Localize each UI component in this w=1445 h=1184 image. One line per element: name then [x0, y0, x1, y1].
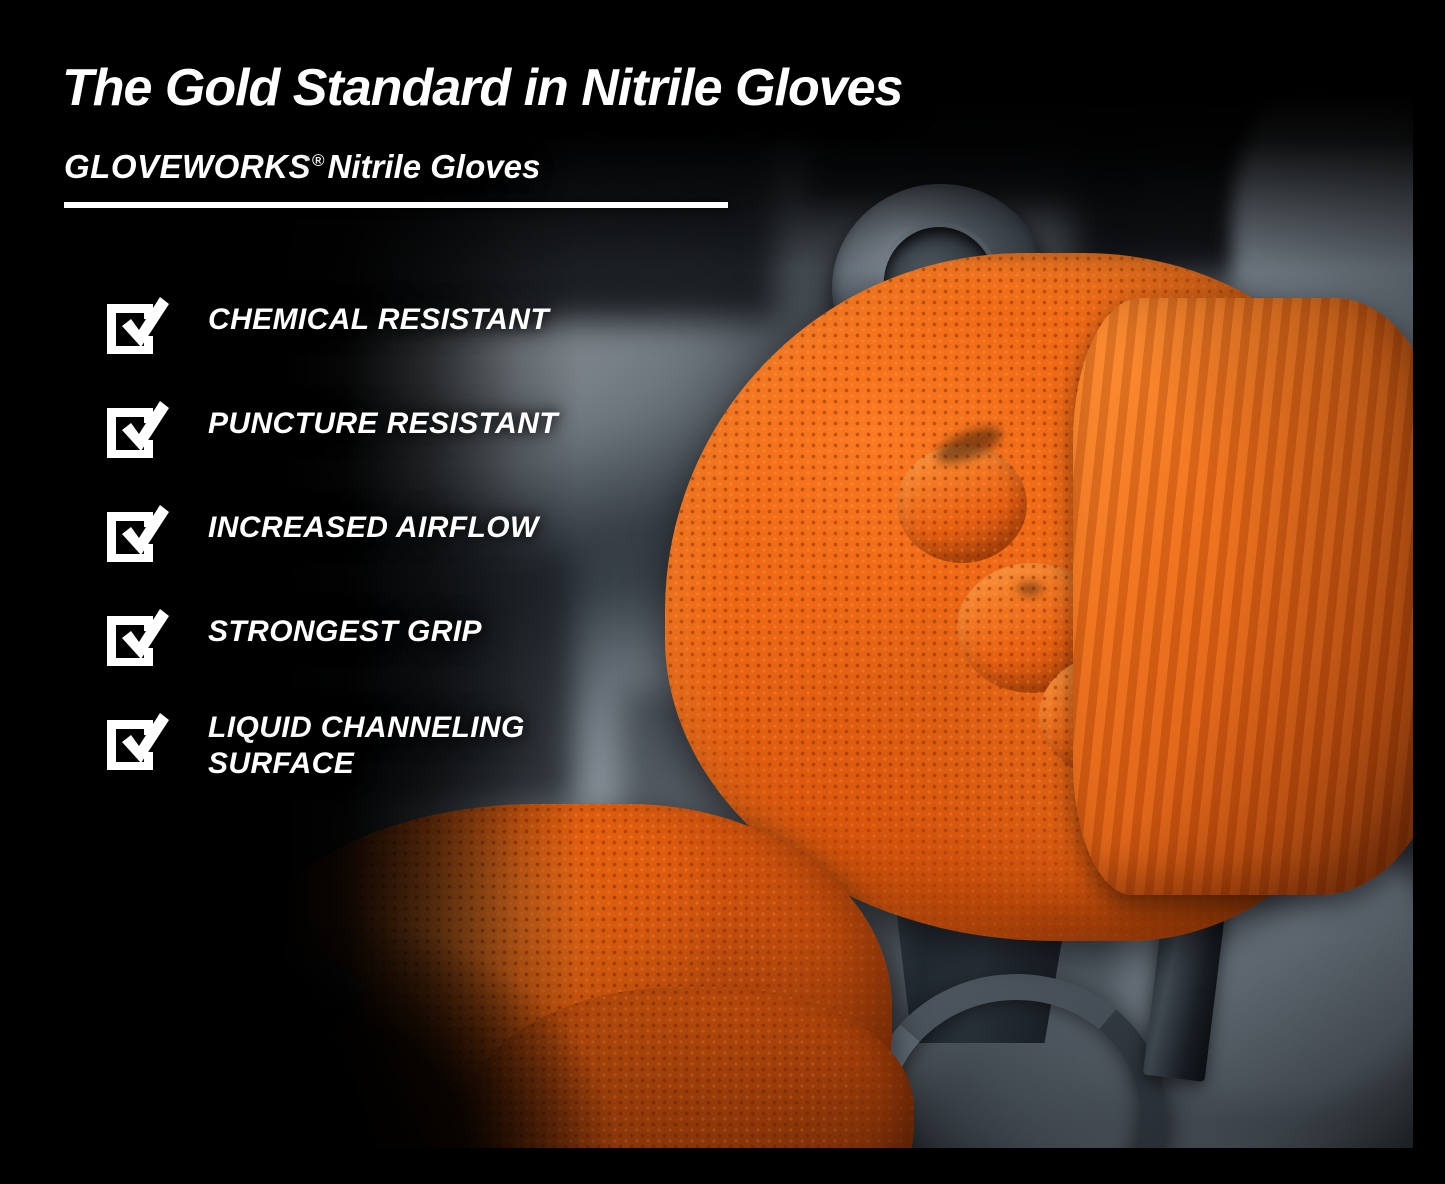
checked-checkbox-icon [103, 604, 173, 670]
divider-rule [64, 202, 728, 208]
registered-trademark-icon: ® [312, 151, 325, 170]
product-line: Nitrile Gloves [328, 148, 541, 185]
headline: The Gold Standard in Nitrile Gloves [62, 58, 902, 118]
feature-label-line2: SURFACE [208, 747, 354, 780]
feature-label: PUNCTURE RESISTANT [208, 406, 558, 442]
product-feature-banner: 45 The Gold Standard in [0, 0, 1445, 1184]
feature-item: STRONGEST GRIP [103, 600, 663, 704]
brand-name: GLOVEWORKS [64, 148, 311, 185]
checked-checkbox-icon [103, 292, 173, 358]
checked-checkbox-icon [103, 708, 173, 774]
checked-checkbox-icon [103, 500, 173, 566]
photo-bottom-left-fade [280, 818, 760, 1148]
feature-item: PUNCTURE RESISTANT [103, 392, 663, 496]
feature-label: CHEMICAL RESISTANT [208, 302, 549, 338]
feature-label: INCREASED AIRFLOW [208, 510, 539, 546]
feature-label: STRONGEST GRIP [208, 614, 482, 650]
feature-label: LIQUID CHANNELING SURFACE [208, 710, 525, 782]
checked-checkbox-icon [103, 396, 173, 462]
feature-list: CHEMICAL RESISTANT PUNCTURE RESISTANT IN… [103, 288, 663, 704]
feature-item: CHEMICAL RESISTANT [103, 288, 663, 392]
feature-item: INCREASED AIRFLOW [103, 496, 663, 600]
brand-subtitle: GLOVEWORKS®Nitrile Gloves [64, 148, 540, 186]
feature-label-line1: LIQUID CHANNELING [208, 711, 525, 744]
